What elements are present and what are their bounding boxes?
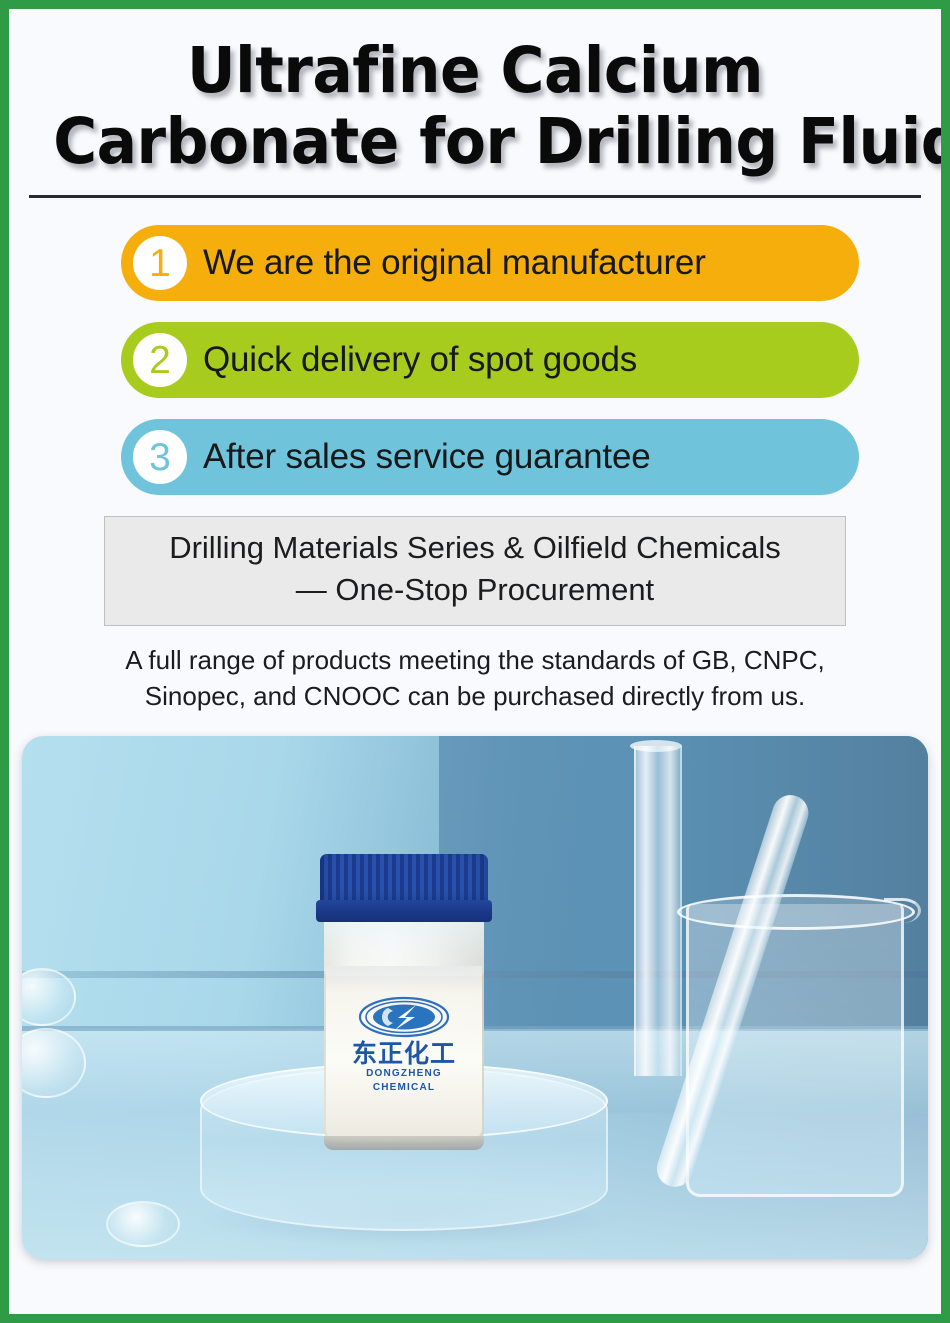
feature-list: 1 We are the original manufacturer 2 Qui… bbox=[9, 225, 941, 495]
feature-label-1: We are the original manufacturer bbox=[203, 243, 706, 283]
feature-pill-3[interactable]: 3 After sales service guarantee bbox=[121, 419, 859, 495]
subtitle-line-2: — One-Stop Procurement bbox=[119, 569, 831, 611]
description-text: A full range of products meeting the sta… bbox=[69, 642, 881, 714]
feature-number-1: 1 bbox=[149, 244, 171, 283]
product-photo: 东正化工 DONGZHENG CHEMICAL bbox=[22, 736, 928, 1259]
feature-pill-2[interactable]: 2 Quick delivery of spot goods bbox=[121, 322, 859, 398]
feature-number-2: 2 bbox=[149, 341, 171, 380]
jar-cap-band bbox=[316, 900, 492, 922]
description-line-1: A full range of products meeting the sta… bbox=[69, 642, 881, 678]
brand-name-en: DONGZHENG CHEMICAL bbox=[334, 1067, 474, 1095]
page-title: Ultrafine Calcium Carbonate for Drilling… bbox=[9, 9, 941, 177]
feature-pill-1[interactable]: 1 We are the original manufacturer bbox=[121, 225, 859, 301]
graduated-cylinder bbox=[634, 746, 682, 1076]
subtitle-box: Drilling Materials Series & Oilfield Che… bbox=[104, 516, 846, 626]
product-jar: 东正化工 DONGZHENG CHEMICAL bbox=[306, 854, 502, 1154]
subtitle-line-1: Drilling Materials Series & Oilfield Che… bbox=[119, 527, 831, 569]
title-divider bbox=[29, 195, 921, 198]
feature-label-3: After sales service guarantee bbox=[203, 437, 651, 477]
jar-base bbox=[324, 1136, 484, 1150]
feature-label-2: Quick delivery of spot goods bbox=[203, 340, 637, 380]
feature-number-badge-3: 3 bbox=[133, 430, 187, 484]
jar-glass-highlight bbox=[324, 918, 484, 976]
feature-number-badge-1: 1 bbox=[133, 236, 187, 290]
beaker-rim bbox=[677, 894, 915, 930]
beaker-spout bbox=[884, 898, 921, 923]
title-line-1: Ultrafine Calcium bbox=[53, 35, 897, 106]
water-bubble bbox=[106, 1201, 180, 1247]
feature-number-3: 3 bbox=[149, 438, 171, 477]
title-line-2: Carbonate for Drilling Fluids bbox=[53, 106, 897, 177]
description-line-2: Sinopec, and CNOOC can be purchased dire… bbox=[69, 678, 881, 714]
product-banner: Ultrafine Calcium Carbonate for Drilling… bbox=[0, 0, 950, 1323]
jar-label: 东正化工 DONGZHENG CHEMICAL bbox=[334, 996, 474, 1095]
brand-name-cn: 东正化工 bbox=[334, 1040, 474, 1067]
dongzheng-logo-icon bbox=[358, 996, 450, 1038]
feature-number-badge-2: 2 bbox=[133, 333, 187, 387]
